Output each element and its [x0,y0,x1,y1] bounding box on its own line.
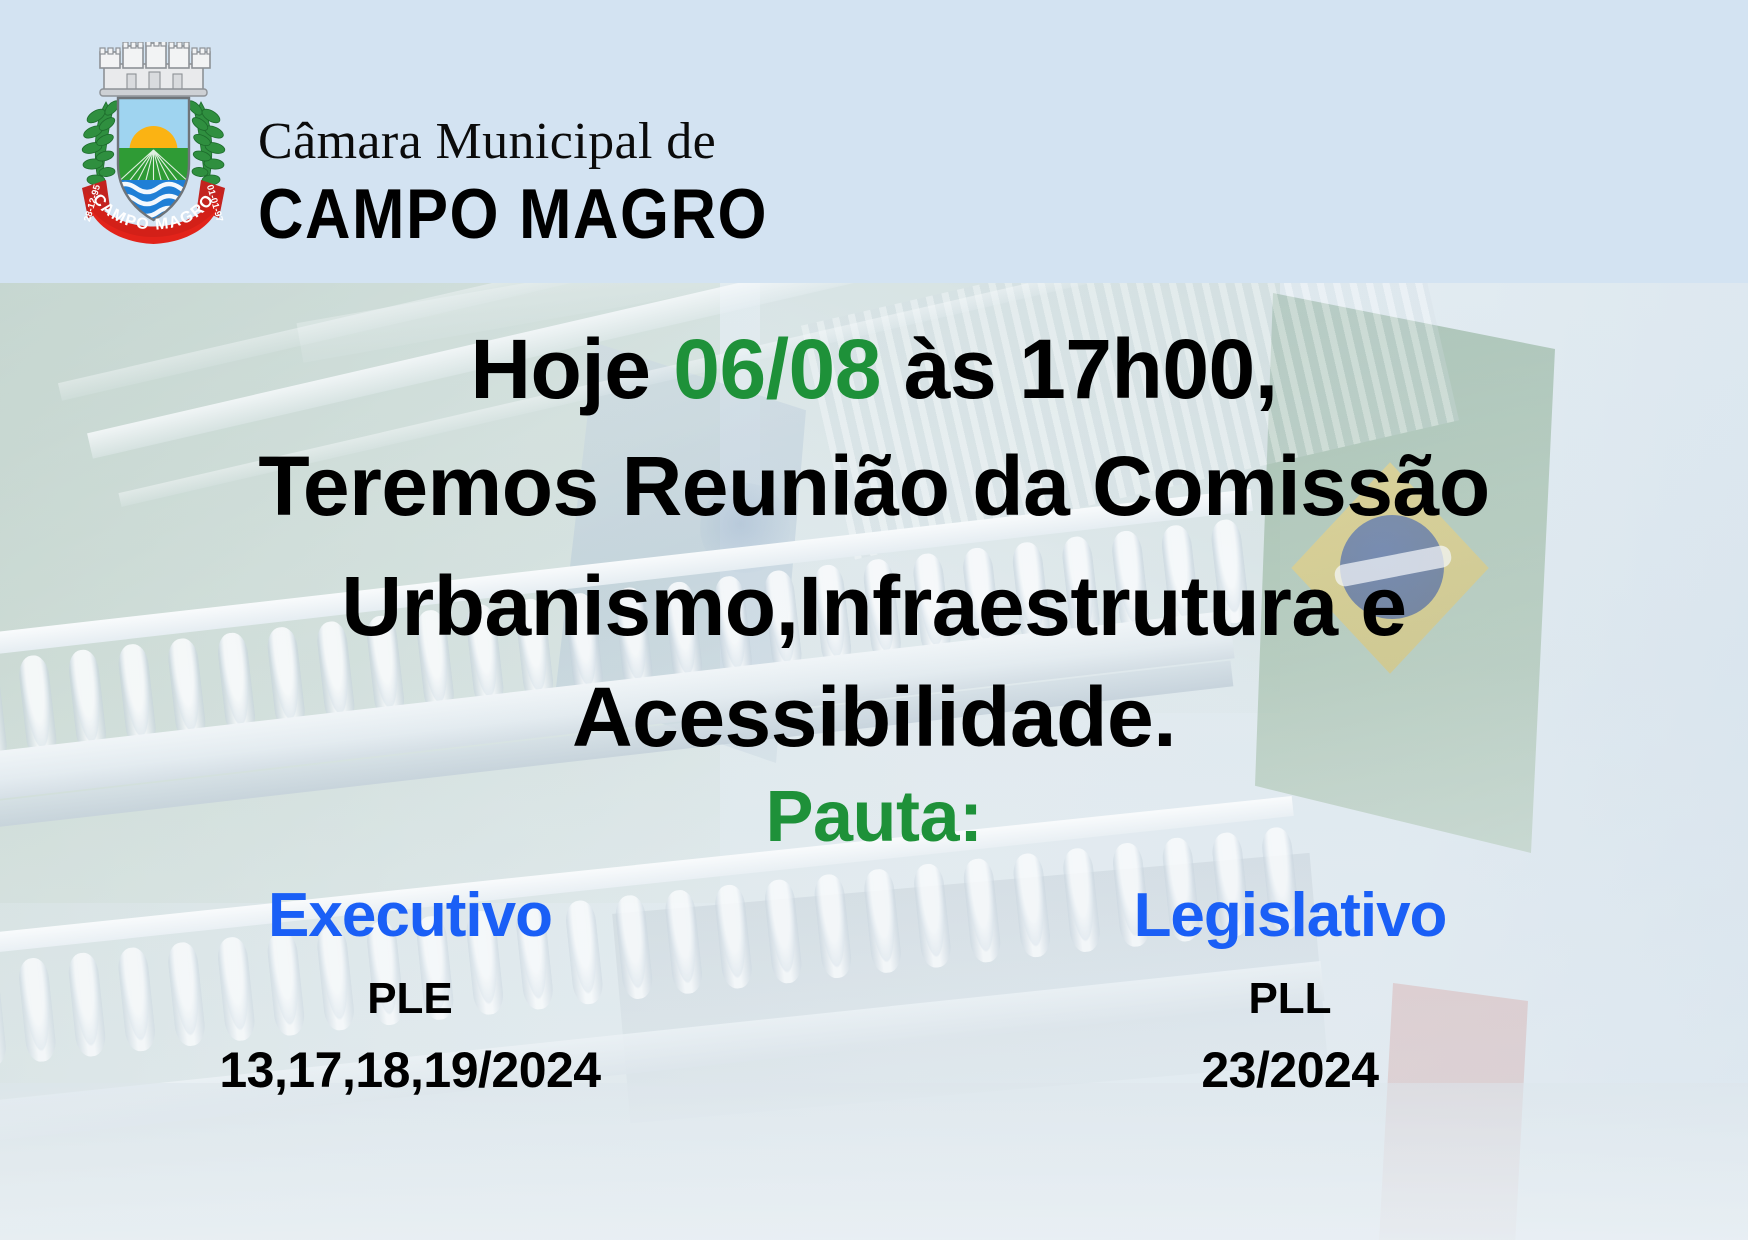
agenda-column-numbers: 13,17,18,19/2024 [60,1044,760,1097]
agenda-column-title: Legislativo [940,883,1640,948]
announcement-line-1-prefix: Hoje [470,322,673,416]
agenda-label: Pauta: [0,781,1748,853]
announcement-content: Hoje 06/08 às 17h00, Teremos Reunião da … [0,283,1748,1240]
agenda-column-code: PLE [60,976,760,1022]
announcement-line-1: Hoje 06/08 às 17h00, [0,327,1748,411]
org-subtitle: Câmara Municipal de [258,116,768,168]
agenda-column-legislativo: Legislativo PLL 23/2024 [940,883,1640,1097]
announcement-line-1-suffix: às 17h00, [881,322,1278,416]
agenda-column-title: Executivo [60,883,760,948]
announcement-line-2: Teremos Reunião da Comissão [0,444,1748,528]
coat-of-arms-icon: CAMPO MAGRO 28-12-95 01-01-97 [76,42,231,247]
announcement-line-3: Urbanismo,Infraestrutura e [0,564,1748,648]
announcement-poster: CÂMARA MUNICIPAL [0,0,1748,1240]
organization-name-block: Câmara Municipal de CAMPO MAGRO [258,116,768,243]
org-title: CAMPO MAGRO [258,180,768,251]
agenda-column-code: PLL [940,976,1640,1022]
announcement-date: 06/08 [673,322,881,416]
agenda-column-executivo: Executivo PLE 13,17,18,19/2024 [60,883,760,1097]
announcement-line-4: Acessibilidade. [0,675,1748,759]
header-band: CAMPO MAGRO 28-12-95 01-01-97 Câmara Mun… [0,0,1748,283]
agenda-column-numbers: 23/2024 [940,1044,1640,1097]
